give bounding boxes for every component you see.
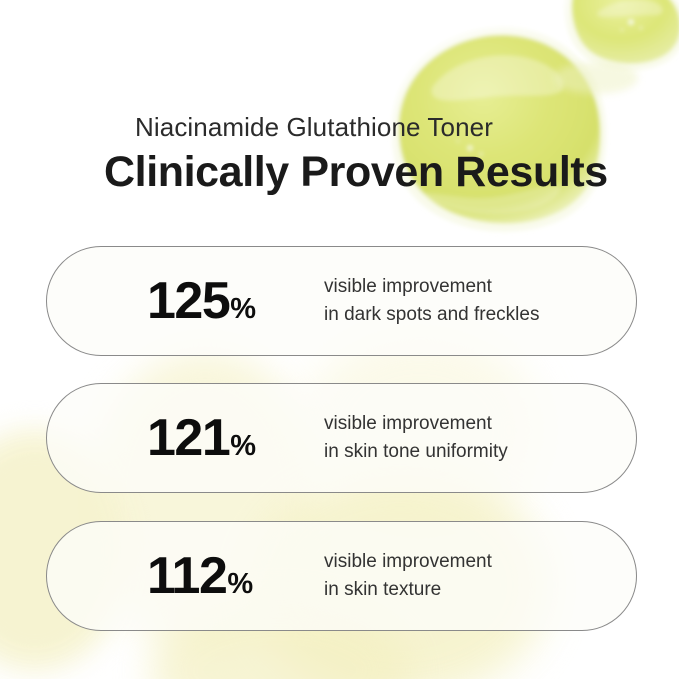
result-card: 112 % visible improvement in skin textur… (46, 521, 637, 631)
gel-spill (554, 62, 638, 94)
gel-droplet-small (564, 0, 679, 71)
page-title: Clinically Proven Results (104, 148, 608, 197)
stat-description-line-1: visible improvement (324, 273, 539, 301)
stat-description: visible improvement in dark spots and fr… (324, 273, 539, 328)
stat-description-line-2: in dark spots and freckles (324, 301, 539, 329)
stat-number: 125 (147, 275, 229, 327)
stat-unit: % (230, 432, 256, 461)
stat-description: visible improvement in skin tone uniform… (324, 410, 508, 465)
result-card: 121 % visible improvement in skin tone u… (46, 383, 637, 493)
stat-unit: % (230, 295, 256, 324)
stat-number: 112 (147, 550, 226, 602)
stat-description: visible improvement in skin texture (324, 548, 492, 603)
product-name: Niacinamide Glutathione Toner (135, 112, 493, 143)
stat-unit: % (227, 570, 253, 599)
result-card: 125 % visible improvement in dark spots … (46, 246, 637, 356)
stat-description-line-1: visible improvement (324, 548, 492, 576)
stat-description-line-1: visible improvement (324, 410, 508, 438)
stat-description-line-2: in skin texture (324, 576, 492, 604)
stat-value-group: 112 % (147, 550, 253, 602)
stat-value-group: 125 % (147, 275, 256, 327)
stat-value-group: 121 % (147, 412, 256, 464)
stat-number: 121 (147, 412, 229, 464)
stat-description-line-2: in skin tone uniformity (324, 438, 508, 466)
promo-graphic: Niacinamide Glutathione Toner Clinically… (0, 0, 679, 679)
